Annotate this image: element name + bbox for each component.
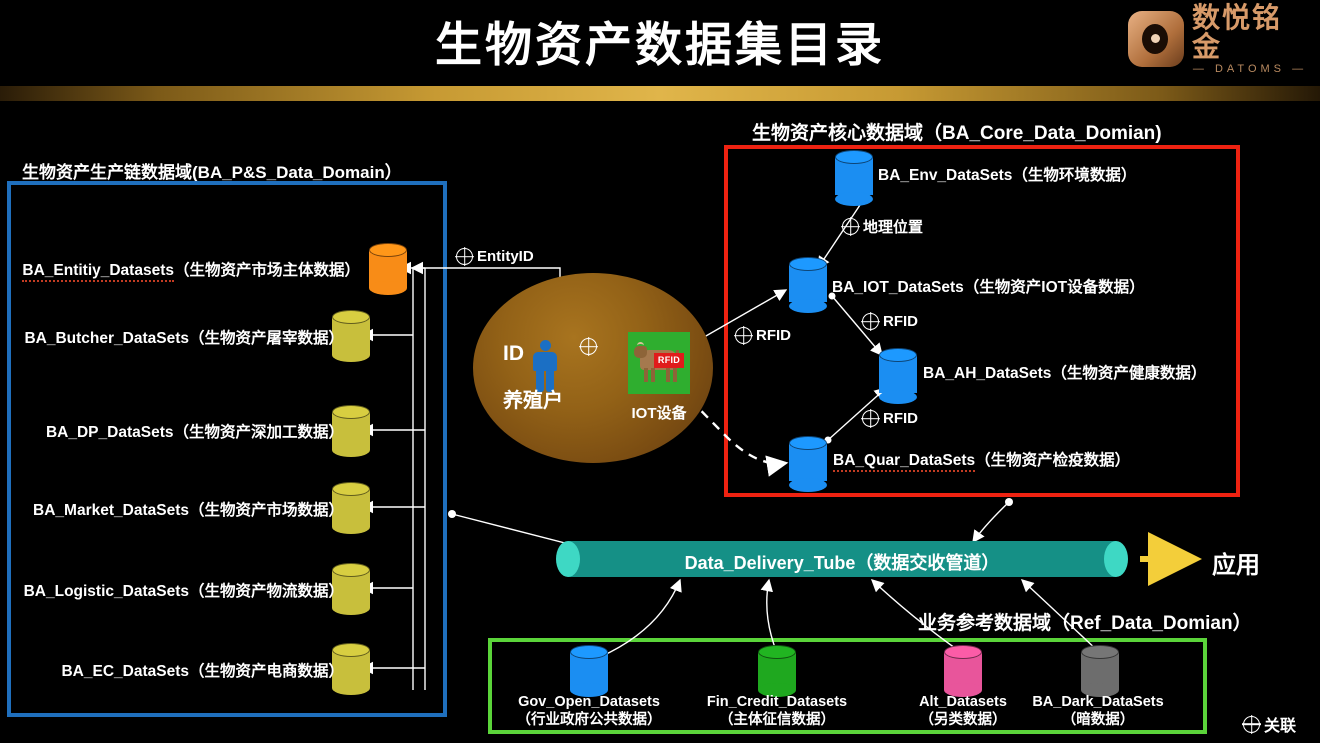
cylinder-cap — [332, 482, 370, 496]
dataset-desc: （暗数据） — [1023, 711, 1173, 729]
label-ba-env: BA_Env_DataSets（生物环境数据） — [878, 163, 1136, 185]
dataset-name: BA_EC_DataSets — [61, 663, 189, 680]
cylinder-ba-env[interactable] — [835, 150, 875, 206]
cylinder-ba-quar[interactable] — [789, 436, 829, 492]
relation-cross-icon — [456, 248, 473, 265]
cylinder-ba-entitiy[interactable] — [369, 243, 407, 295]
legend-relation: 关联 — [1243, 712, 1296, 736]
dataset-desc: （生物资产市场数据） — [189, 502, 344, 519]
relation-rfid-label: RFID — [883, 410, 918, 427]
dataset-desc: （主体征信数据） — [677, 711, 877, 729]
label-ba-quar: BA_Quar_DataSets（生物资产检疫数据） — [833, 448, 1130, 470]
cylinder-bottom — [835, 192, 873, 206]
application-label: 应用 — [1212, 545, 1260, 580]
relation-geolocation: 地理位置 — [842, 216, 923, 237]
cylinder-bottom — [369, 281, 407, 295]
dataset-desc: （生物资产健康数据） — [1051, 365, 1206, 382]
dataset-name: BA_Logistic_DataSets — [24, 583, 189, 600]
cylinder-bottom — [789, 299, 827, 313]
legend-relation-label: 关联 — [1264, 712, 1296, 736]
cylinder-ba-dark[interactable] — [1081, 645, 1119, 697]
cylinder-ba-iot[interactable] — [789, 257, 829, 313]
dataset-name: BA_AH_DataSets — [923, 365, 1051, 382]
label-ba-dark: BA_Dark_DataSets （暗数据） — [1023, 693, 1173, 729]
iot-device-image: RFID — [628, 332, 690, 394]
cylinder-cap — [1081, 645, 1119, 659]
dataset-desc: （生物资产电商数据） — [189, 663, 344, 680]
dataset-name: BA_Entitiy_Datasets — [22, 262, 174, 282]
cylinder-bottom — [879, 390, 917, 404]
label-ba-entitiy: BA_Entitiy_Datasets（生物资产市场主体数据） — [0, 258, 360, 280]
dataset-desc: （生物资产检疫数据） — [975, 452, 1130, 469]
page-header: 生物资产数据集目录 数悦铭金 DATOMS — [0, 0, 1320, 80]
relation-cross-icon — [862, 410, 879, 427]
cylinder-bottom — [332, 520, 370, 534]
logo-wordmark: 数悦铭金 DATOMS — [1192, 3, 1308, 76]
dataset-desc: （生物资产IOT设备数据） — [964, 279, 1145, 296]
dataset-desc: （生物环境数据） — [1012, 167, 1136, 184]
dataset-desc: （行业政府公共数据） — [489, 711, 689, 729]
cylinder-bottom — [332, 443, 370, 457]
label-ba-ah: BA_AH_DataSets（生物资产健康数据） — [923, 361, 1206, 383]
data-delivery-tube[interactable]: Data_Delivery_Tube（数据交收管道） — [556, 541, 1128, 577]
relation-cross-icon — [580, 338, 597, 355]
relation-rfid-label: RFID — [883, 313, 918, 330]
relation-rfid-ah: RFID — [862, 313, 918, 330]
iot-device-label: IOT设备 — [619, 402, 699, 423]
panel-title-ps: 生物资产生产链数据域(BA_P&S_Data_Domain） — [22, 158, 402, 183]
dataset-desc: （生物资产物流数据） — [189, 583, 344, 600]
cylinder-cap — [332, 405, 370, 419]
dataset-name: BA_Butcher_DataSets — [24, 330, 189, 347]
person-torso — [533, 352, 557, 371]
cylinder-cap — [332, 563, 370, 577]
relation-cross-icon — [1243, 716, 1260, 733]
cylinder-cap — [570, 645, 608, 659]
dataset-name: BA_Dark_DataSets — [1023, 693, 1173, 711]
farmer-label: 养殖户 — [503, 384, 563, 413]
relation-rfid-label: RFID — [756, 327, 791, 344]
dataset-desc: （生物资产屠宰数据） — [189, 330, 344, 347]
id-label: ID — [503, 342, 524, 366]
label-ba-ec: BA_EC_DataSets（生物资产电商数据） — [0, 659, 344, 681]
dataset-name: BA_Quar_DataSets — [833, 452, 975, 472]
cylinder-cap — [835, 150, 873, 164]
cylinder-alt[interactable] — [944, 645, 982, 697]
cylinder-cap — [944, 645, 982, 659]
relation-cross-icon — [842, 218, 859, 235]
label-ba-iot: BA_IOT_DataSets（生物资产IOT设备数据） — [832, 275, 1145, 297]
label-gov-open: Gov_Open_Datasets （行业政府公共数据） — [489, 693, 689, 729]
relation-cross-icon — [862, 313, 879, 330]
relation-rfid-quar: RFID — [862, 410, 918, 427]
label-ba-logistic: BA_Logistic_DataSets（生物资产物流数据） — [0, 579, 344, 601]
dataset-name: BA_DP_DataSets — [46, 424, 174, 441]
cylinder-fin-credit[interactable] — [758, 645, 796, 697]
dataset-name: BA_IOT_DataSets — [832, 279, 964, 296]
label-alt: Alt_Datasets （另类数据） — [888, 693, 1038, 729]
cylinder-cap — [879, 348, 917, 362]
dataset-desc: （生物资产市场主体数据） — [174, 262, 360, 279]
cow-leg — [673, 368, 677, 382]
label-ba-market: BA_Market_DataSets（生物资产市场数据） — [0, 498, 344, 520]
brand-logo: 数悦铭金 DATOMS — [1128, 8, 1308, 70]
diagram-canvas: 生物资产数据集目录 数悦铭金 DATOMS 生物资产生产链数据域(BA_P&S_… — [0, 0, 1320, 743]
relation-cross-icon — [735, 327, 752, 344]
label-ba-butcher: BA_Butcher_DataSets（生物资产屠宰数据） — [0, 326, 344, 348]
dataset-name: Gov_Open_Datasets — [489, 693, 689, 711]
cow-leg — [651, 368, 655, 382]
logo-chinese-name: 数悦铭金 — [1192, 3, 1308, 62]
cylinder-cap — [789, 257, 827, 271]
logo-mark-icon — [1128, 11, 1184, 67]
cow-horn-shape — [637, 342, 644, 349]
relation-rfid-iot: RFID — [735, 327, 791, 344]
person-head — [540, 340, 551, 351]
cylinder-bottom — [332, 681, 370, 695]
rfid-tag-badge: RFID — [654, 353, 684, 368]
logo-english-name: DATOMS — [1193, 63, 1307, 75]
cylinder-cap — [332, 643, 370, 657]
cow-leg — [644, 368, 648, 382]
cylinder-cap — [789, 436, 827, 450]
page-title: 生物资产数据集目录 — [0, 6, 1320, 75]
dataset-name: BA_Env_DataSets — [878, 167, 1012, 184]
cylinder-bottom — [789, 478, 827, 492]
relation-entityid-label: EntityID — [477, 248, 534, 265]
panel-title-ref: 业务参考数据域（Ref_Data_Domian） — [918, 608, 1252, 635]
relation-geolocation-label: 地理位置 — [863, 216, 923, 237]
cylinder-cap — [758, 645, 796, 659]
dataset-name: BA_Market_DataSets — [33, 502, 189, 519]
cylinder-cap — [369, 243, 407, 257]
panel-title-core: 生物资产核心数据域（BA_Core_Data_Domian) — [752, 118, 1162, 145]
dataset-desc: （另类数据） — [888, 711, 1038, 729]
dataset-desc: （生物资产深加工数据） — [173, 424, 344, 441]
dataset-name: Alt_Datasets — [888, 693, 1038, 711]
tube-label: Data_Delivery_Tube（数据交收管道） — [556, 549, 1128, 575]
gold-divider-bar — [0, 86, 1320, 101]
cylinder-cap — [332, 310, 370, 324]
label-ba-dp: BA_DP_DataSets（生物资产深加工数据） — [0, 420, 344, 442]
dataset-name: Fin_Credit_Datasets — [677, 693, 877, 711]
cylinder-gov-open[interactable] — [570, 645, 608, 697]
cylinder-bottom — [332, 601, 370, 615]
cylinder-ba-ah[interactable] — [879, 348, 919, 404]
cow-leg — [666, 368, 670, 382]
cylinder-bottom — [332, 348, 370, 362]
relation-id-to-iot — [580, 338, 597, 355]
label-fin-credit: Fin_Credit_Datasets （主体征信数据） — [677, 693, 877, 729]
relation-entityid: EntityID — [456, 248, 534, 265]
